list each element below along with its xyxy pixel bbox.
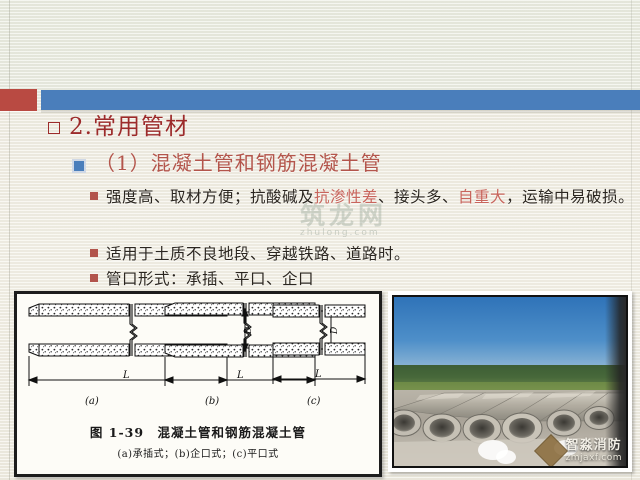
header-red-block: [0, 89, 37, 111]
hollow-square-bullet-icon: [48, 122, 60, 134]
figure-caption-line1: 图 1-39 混凝土管和钢筋混凝土管: [17, 422, 379, 441]
bullet-segment: 、接头多、: [378, 188, 458, 206]
photo-watermark: 智淼消防 zmjaxf.com: [539, 439, 622, 463]
red-square-bullet-icon: [90, 249, 98, 257]
bullet-segment-highlight: 抗渗性差: [314, 188, 378, 206]
figure-panel: D L (a): [14, 291, 382, 477]
slide-canvas: 2.常用管材 （1）混凝土管和钢筋混凝土管 筑龙网 zhulong.com 强度…: [0, 0, 640, 480]
figure-caption: 图 1-39 混凝土管和钢筋混凝土管 (a)承插式；(b)企口式；(c)平口式: [17, 422, 379, 460]
photo-watermark-brand: 智淼消防: [566, 439, 622, 452]
svg-text:L: L: [236, 370, 244, 381]
heading-level1-text: 2.常用管材: [69, 114, 189, 140]
blue-square-bullet-icon: [72, 159, 86, 173]
svg-text:D: D: [330, 327, 340, 335]
bullet-text: 强度高、取材方便；抗酸碱及抗渗性差、接头多、自重大，运输中易破损。: [106, 186, 634, 208]
photo-panel: 智淼消防 zmjaxf.com: [388, 291, 632, 472]
heading-level1: 2.常用管材: [48, 114, 189, 140]
red-square-bullet-icon: [90, 274, 98, 282]
left-margin-rule: [9, 0, 10, 480]
bullet-segment: 强度高、取材方便；抗酸碱及: [106, 188, 314, 206]
header-blue-bar: [41, 90, 640, 110]
bullet-text: 管口形式：承插、平口、企口: [106, 268, 314, 290]
header-bar-shadow: [41, 110, 640, 113]
photo-watermark-text: 智淼消防 zmjaxf.com: [566, 439, 622, 463]
figure-caption-line2: (a)承插式；(b)企口式；(c)平口式: [17, 445, 379, 460]
red-square-bullet-icon: [90, 192, 98, 200]
svg-text:(c): (c): [307, 396, 321, 407]
bullet-segment-highlight: 自重大: [458, 188, 506, 206]
heading-level2-text: （1）混凝土管和钢筋混凝土管: [95, 152, 382, 175]
svg-text:L: L: [314, 369, 322, 380]
photo-blur-blob: [496, 450, 516, 464]
brand-diamond-logo-icon: [534, 434, 568, 468]
heading-level2: （1）混凝土管和钢筋混凝土管: [72, 152, 382, 175]
bullet-segment: ，运输中易破损。: [506, 188, 634, 206]
photo-watermark-url: zmjaxf.com: [566, 454, 622, 463]
svg-text:L: L: [122, 370, 130, 381]
bullet-item: 强度高、取材方便；抗酸碱及抗渗性差、接头多、自重大，运输中易破损。: [90, 186, 635, 208]
pipe-cross-section-diagram: D L (a): [17, 294, 373, 424]
body-watermark-url: zhulong.com: [300, 228, 380, 238]
svg-text:(a): (a): [85, 396, 99, 407]
bullet-item: 适用于土质不良地段、穿越铁路、道路时。: [90, 243, 590, 265]
photo-image: 智淼消防 zmjaxf.com: [392, 295, 628, 468]
svg-text:(b): (b): [205, 396, 219, 407]
bullet-text: 适用于土质不良地段、穿越铁路、道路时。: [106, 243, 410, 265]
bullet-item: 管口形式：承插、平口、企口: [90, 268, 590, 290]
